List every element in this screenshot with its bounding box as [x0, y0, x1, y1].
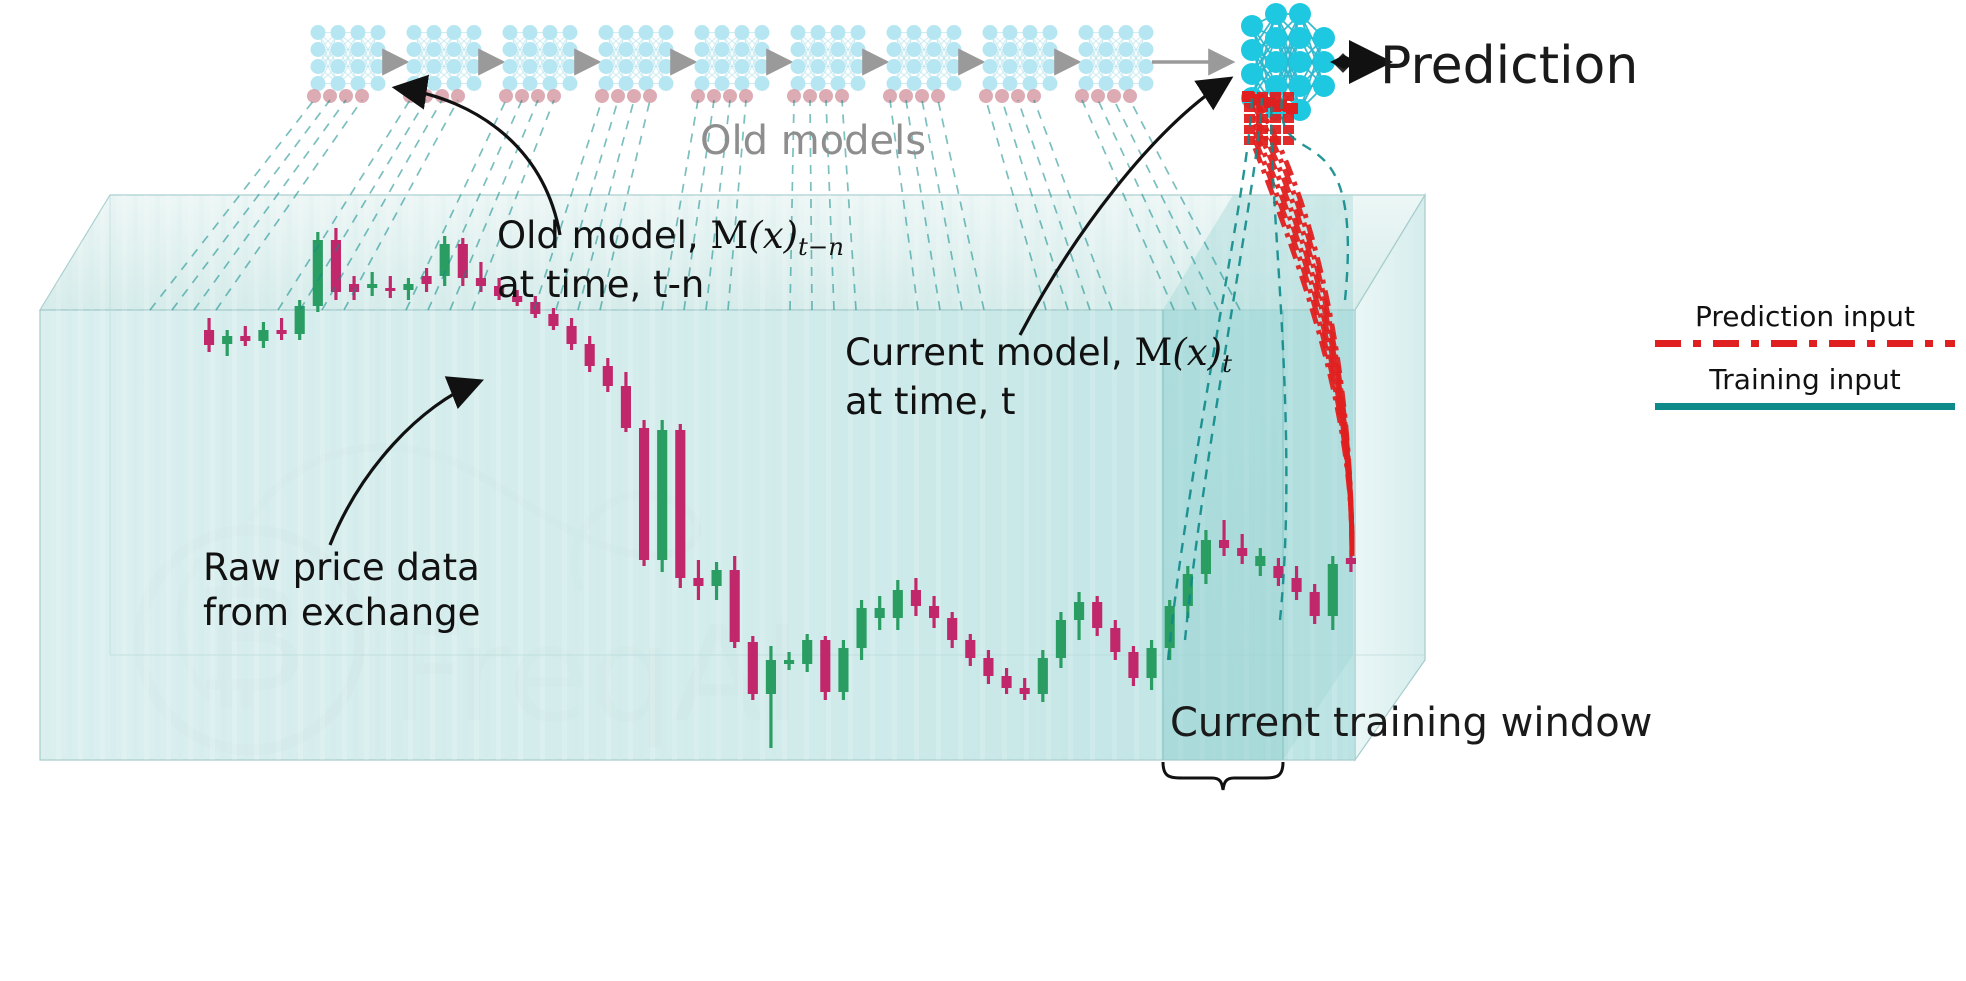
- nn-node: [1099, 76, 1114, 91]
- nn-node: [831, 42, 846, 57]
- nn-node: [503, 59, 518, 74]
- nn-node: [927, 76, 942, 91]
- candle-body: [458, 244, 468, 278]
- candle-body: [566, 326, 576, 344]
- nn-node: [1241, 87, 1263, 109]
- nn-node: [907, 59, 922, 74]
- prediction-input-node: [1286, 103, 1298, 114]
- candle-body: [784, 660, 794, 664]
- nn-node: [1313, 27, 1335, 49]
- training-input-line: [938, 100, 984, 310]
- prediction-input-node: [1270, 114, 1281, 123]
- candle-body: [1165, 606, 1175, 648]
- prediction-input-node: [1257, 136, 1268, 145]
- candle-body: [1346, 558, 1356, 564]
- nn-node: [1099, 25, 1114, 40]
- candle-body: [639, 428, 649, 560]
- training-input-line-current: [1282, 98, 1348, 300]
- nn-node: [791, 25, 806, 40]
- nn-node: [523, 42, 538, 57]
- annotation-current-model-line1: Current model, M(x)t: [845, 330, 1232, 379]
- nn-node: [907, 25, 922, 40]
- nn-node: [467, 59, 482, 74]
- nn-node: [543, 76, 558, 91]
- nn-input-node: [307, 89, 321, 103]
- nn-node: [1079, 59, 1094, 74]
- nn-input-node: [691, 89, 705, 103]
- nn-node: [563, 59, 578, 74]
- prediction-input-node: [1283, 114, 1294, 123]
- nn-node: [851, 59, 866, 74]
- nn-node: [311, 59, 326, 74]
- nn-node: [1313, 51, 1335, 73]
- nn-node: [1119, 76, 1134, 91]
- nn-node: [755, 59, 770, 74]
- candle-body: [1255, 556, 1265, 566]
- nn-node: [1119, 25, 1134, 40]
- nn-node: [755, 25, 770, 40]
- candle-body: [657, 430, 667, 560]
- training-input-line: [1002, 100, 1068, 310]
- current-model-network: [1241, 3, 1353, 145]
- nn-node: [447, 42, 462, 57]
- nn-node: [715, 42, 730, 57]
- nn-node: [467, 25, 482, 40]
- candle-body: [675, 430, 685, 578]
- prediction-input-node: [1257, 92, 1268, 101]
- candle-body: [548, 314, 558, 326]
- training-input-line: [278, 100, 410, 310]
- prediction-arrow-group: [1330, 55, 1385, 69]
- legend-label-training-input: Training input: [1655, 363, 1955, 396]
- training-input-line: [344, 100, 458, 310]
- nn-node: [639, 76, 654, 91]
- training-input-line: [986, 100, 1046, 310]
- nn-node: [427, 42, 442, 57]
- candle-body: [204, 330, 214, 345]
- candle-body: [295, 306, 305, 334]
- nn-input-node: [883, 89, 897, 103]
- prediction-input-node: [1244, 136, 1255, 145]
- nn-node: [543, 59, 558, 74]
- nn-input-node: [547, 89, 561, 103]
- candle-body: [875, 608, 885, 618]
- candle-body: [385, 288, 395, 291]
- nn-node: [1241, 15, 1263, 37]
- nn-node: [927, 25, 942, 40]
- nn-input-node: [595, 89, 609, 103]
- prediction-input-node: [1283, 103, 1294, 112]
- annotation-raw-price-line2: from exchange: [203, 590, 480, 635]
- training-input-line: [1018, 100, 1090, 310]
- prediction-input-node: [1270, 92, 1281, 101]
- nn-node: [447, 76, 462, 91]
- prediction-input-node: [1257, 125, 1268, 134]
- candle-body: [1310, 592, 1320, 616]
- nn-node: [407, 25, 422, 40]
- nn-node: [715, 76, 730, 91]
- candle-body: [856, 608, 866, 648]
- nn-node: [1265, 75, 1287, 97]
- nn-node: [1289, 75, 1311, 97]
- prediction-input-node: [1283, 92, 1294, 101]
- nn-node: [371, 76, 386, 91]
- nn-input-node: [643, 89, 657, 103]
- nn-input-node: [1011, 89, 1025, 103]
- nn-input-node: [723, 89, 737, 103]
- annotation-raw-price: Raw price data from exchange: [203, 545, 480, 635]
- candle-body: [983, 658, 993, 676]
- nn-output-node: [1333, 53, 1353, 73]
- nn-node: [1099, 42, 1114, 57]
- nn-node: [371, 59, 386, 74]
- nn-node: [755, 42, 770, 57]
- candle-body: [367, 284, 377, 288]
- nn-node: [735, 25, 750, 40]
- nn-node: [983, 42, 998, 57]
- prediction-input-line: [1255, 116, 1352, 556]
- nn-node: [311, 42, 326, 57]
- candle-body: [1219, 540, 1229, 548]
- candle-body: [693, 578, 703, 586]
- nn-node: [851, 76, 866, 91]
- candle-body: [276, 330, 286, 334]
- nn-node: [1289, 51, 1311, 73]
- candle-body: [1273, 566, 1283, 578]
- candle-body: [1020, 688, 1030, 694]
- nn-node: [523, 25, 538, 40]
- candle-body: [313, 240, 323, 306]
- nn-input-node: [739, 89, 753, 103]
- nn-node: [735, 42, 750, 57]
- nn-node: [1043, 59, 1058, 74]
- prediction-input-line: [1255, 148, 1352, 548]
- nn-node: [447, 25, 462, 40]
- training-input-line: [922, 100, 962, 310]
- nn-input-node: [931, 89, 945, 103]
- nn-input-node: [403, 89, 417, 103]
- nn-node: [639, 42, 654, 57]
- prediction-input-node: [1275, 100, 1287, 111]
- nn-node: [1265, 51, 1287, 73]
- nn-node: [887, 59, 902, 74]
- nn-node: [599, 25, 614, 40]
- nn-node: [563, 76, 578, 91]
- training-input-line: [1130, 100, 1240, 310]
- nn-node: [887, 76, 902, 91]
- legend-swatch-prediction-input: [1655, 340, 1955, 347]
- candle-body: [421, 276, 431, 284]
- nn-node: [639, 25, 654, 40]
- nn-node: [503, 76, 518, 91]
- nn-input-node: [1075, 89, 1089, 103]
- nn-node: [503, 25, 518, 40]
- candle-body: [476, 278, 486, 286]
- prediction-input-node: [1283, 125, 1294, 134]
- candle-body: [1183, 574, 1193, 606]
- nn-node: [427, 76, 442, 91]
- nn-node: [851, 25, 866, 40]
- nn-node: [331, 59, 346, 74]
- annotation-raw-price-line1: Raw price data: [203, 545, 480, 590]
- prediction-input-node: [1242, 91, 1254, 102]
- candle-body: [585, 344, 595, 366]
- nn-node: [791, 59, 806, 74]
- training-input-line: [172, 100, 330, 310]
- nn-node: [735, 59, 750, 74]
- nn-node: [523, 76, 538, 91]
- nn-node: [563, 42, 578, 57]
- nn-node: [947, 25, 962, 40]
- nn-node: [351, 25, 366, 40]
- nn-node: [907, 76, 922, 91]
- nn-node: [1023, 76, 1038, 91]
- candle-body: [222, 336, 232, 344]
- candle-body: [331, 240, 341, 292]
- annotation-old-model-line2: at time, t-n: [497, 262, 844, 307]
- nn-node: [947, 76, 962, 91]
- nn-input-node: [531, 89, 545, 103]
- nn-node: [983, 76, 998, 91]
- training-input-line: [406, 100, 506, 310]
- nn-node: [887, 25, 902, 40]
- nn-input-node: [899, 89, 913, 103]
- nn-input-node: [803, 89, 817, 103]
- nn-input-node: [1027, 89, 1041, 103]
- prediction-input-line: [1255, 108, 1352, 558]
- nn-node: [311, 76, 326, 91]
- prediction-input-line: [1255, 100, 1352, 560]
- nn-node: [371, 25, 386, 40]
- nn-node: [523, 59, 538, 74]
- candle-body: [893, 590, 903, 618]
- nn-node: [791, 76, 806, 91]
- legend-entry-prediction-input[interactable]: Prediction input: [1655, 300, 1955, 347]
- nn-node: [791, 42, 806, 57]
- nn-node: [619, 59, 634, 74]
- nn-node: [407, 59, 422, 74]
- nn-node: [1043, 25, 1058, 40]
- nn-input-node: [451, 89, 465, 103]
- nn-node: [371, 42, 386, 57]
- candle-body: [820, 640, 830, 692]
- candle-body: [403, 284, 413, 290]
- candle-body: [1128, 652, 1138, 678]
- nn-input-node: [979, 89, 993, 103]
- annotation-current-model: Current model, M(x)t at time, t: [845, 330, 1232, 424]
- nn-node: [447, 59, 462, 74]
- candle-body: [1328, 564, 1338, 616]
- box-right-face: [1355, 195, 1425, 760]
- nn-input-node: [355, 89, 369, 103]
- legend-entry-training-input[interactable]: Training input: [1655, 363, 1955, 410]
- nn-node: [755, 76, 770, 91]
- prediction-label: Prediction: [1380, 36, 1638, 97]
- nn-node: [599, 76, 614, 91]
- nn-node: [851, 42, 866, 57]
- nn-node: [1289, 99, 1311, 121]
- candle-body: [1237, 548, 1247, 556]
- candle-body: [802, 640, 812, 664]
- nn-node: [619, 76, 634, 91]
- nn-node: [659, 59, 674, 74]
- leader-current-model: [1020, 80, 1228, 335]
- candle-body: [911, 590, 921, 606]
- nn-node: [467, 76, 482, 91]
- old-models-group: [307, 25, 1232, 103]
- nn-input-node: [787, 89, 801, 103]
- training-input-line: [1082, 100, 1174, 310]
- training-window-brace: [1163, 762, 1283, 790]
- candle-body: [947, 618, 957, 640]
- nn-node: [659, 76, 674, 91]
- prediction-input-node: [1270, 125, 1281, 134]
- nn-node: [659, 42, 674, 57]
- nn-input-node: [499, 89, 513, 103]
- nn-node: [947, 42, 962, 57]
- nn-node: [1079, 25, 1094, 40]
- nn-node: [1139, 59, 1154, 74]
- nn-node: [427, 25, 442, 40]
- nn-node: [695, 25, 710, 40]
- nn-node: [639, 59, 654, 74]
- nn-input-node: [1091, 89, 1105, 103]
- nn-node: [811, 76, 826, 91]
- nn-input-node: [819, 89, 833, 103]
- candle-body: [240, 336, 250, 341]
- nn-node: [351, 42, 366, 57]
- training-input-line: [1034, 100, 1112, 310]
- current-training-window-slab: [1163, 195, 1353, 760]
- nn-node: [695, 76, 710, 91]
- training-input-line: [216, 100, 362, 310]
- nn-node: [1003, 59, 1018, 74]
- nn-node: [1003, 25, 1018, 40]
- nn-node: [715, 25, 730, 40]
- nn-node: [811, 59, 826, 74]
- old-models-label: Old models: [700, 118, 926, 165]
- training-input-line: [322, 100, 442, 310]
- prediction-input-node: [1244, 114, 1255, 123]
- nn-node: [331, 76, 346, 91]
- nn-input-node: [611, 89, 625, 103]
- training-input-line: [150, 100, 314, 310]
- nn-node: [1241, 39, 1263, 61]
- nn-node: [1003, 42, 1018, 57]
- nn-node: [1099, 59, 1114, 74]
- nn-node: [1043, 76, 1058, 91]
- nn-node: [1043, 42, 1058, 57]
- legend-label-prediction-input: Prediction input: [1655, 300, 1955, 333]
- nn-node: [887, 42, 902, 57]
- nn-node: [1003, 76, 1018, 91]
- nn-input-node: [915, 89, 929, 103]
- nn-node: [407, 76, 422, 91]
- candle-body: [1074, 602, 1084, 620]
- prediction-input-node: [1264, 97, 1276, 108]
- training-input-line: [1114, 100, 1218, 310]
- nn-node: [563, 25, 578, 40]
- candle-body: [711, 570, 721, 586]
- nn-input-node: [323, 89, 337, 103]
- candle-body: [621, 386, 631, 428]
- candle-body: [1291, 578, 1301, 592]
- candle-body: [258, 330, 268, 341]
- nn-node: [311, 25, 326, 40]
- candle-body: [929, 606, 939, 618]
- nn-node: [1289, 27, 1311, 49]
- candle-body: [440, 244, 450, 276]
- nn-node: [1023, 42, 1038, 57]
- nn-node: [331, 42, 346, 57]
- nn-node: [715, 59, 730, 74]
- annotation-old-model: Old model, M(x)t−n at time, t-n: [497, 213, 844, 307]
- nn-node: [811, 25, 826, 40]
- nn-node: [1079, 42, 1094, 57]
- nn-node: [927, 59, 942, 74]
- nn-node: [1139, 42, 1154, 57]
- nn-node: [1265, 27, 1287, 49]
- diagram-canvas: ₿ FreqAI: [0, 0, 1966, 981]
- nn-node: [1265, 3, 1287, 25]
- prediction-input-node: [1244, 103, 1255, 112]
- candle-body: [1201, 540, 1211, 574]
- nn-input-node: [419, 89, 433, 103]
- prediction-input-node: [1253, 94, 1265, 105]
- nn-node: [831, 25, 846, 40]
- nn-node: [831, 76, 846, 91]
- nn-node: [1119, 42, 1134, 57]
- nn-node: [1119, 59, 1134, 74]
- prediction-input-node: [1257, 114, 1268, 123]
- nn-node: [659, 25, 674, 40]
- candle-body: [1056, 620, 1066, 658]
- nn-node: [907, 42, 922, 57]
- current-training-window-label: Current training window: [1170, 700, 1652, 747]
- prediction-input-line: [1255, 140, 1352, 550]
- nn-input-node: [835, 89, 849, 103]
- nn-node: [1139, 25, 1154, 40]
- nn-node: [927, 42, 942, 57]
- prediction-input-node: [1270, 136, 1281, 145]
- candle-body: [838, 648, 848, 692]
- nn-node: [735, 76, 750, 91]
- nn-input-node: [1123, 89, 1137, 103]
- nn-input-node: [515, 89, 529, 103]
- training-input-line: [1098, 100, 1196, 310]
- candle-body: [603, 366, 613, 386]
- nn-node: [831, 59, 846, 74]
- nn-node: [503, 42, 518, 57]
- nn-node: [407, 42, 422, 57]
- candle-body: [1110, 628, 1120, 652]
- candle-body: [1092, 602, 1102, 628]
- nn-input-node: [1107, 89, 1121, 103]
- nn-node: [1023, 25, 1038, 40]
- candle-body: [349, 284, 359, 292]
- nn-node: [543, 42, 558, 57]
- training-input-line: [300, 100, 426, 310]
- prediction-input-node: [1283, 136, 1294, 145]
- candle-body: [1038, 658, 1048, 694]
- training-input-line: [194, 100, 346, 310]
- nn-node: [947, 59, 962, 74]
- nn-node: [351, 76, 366, 91]
- nn-node: [427, 59, 442, 74]
- prediction-input-node: [1270, 103, 1281, 112]
- prediction-input-node: [1257, 103, 1268, 112]
- annotation-current-model-line2: at time, t: [845, 379, 1232, 424]
